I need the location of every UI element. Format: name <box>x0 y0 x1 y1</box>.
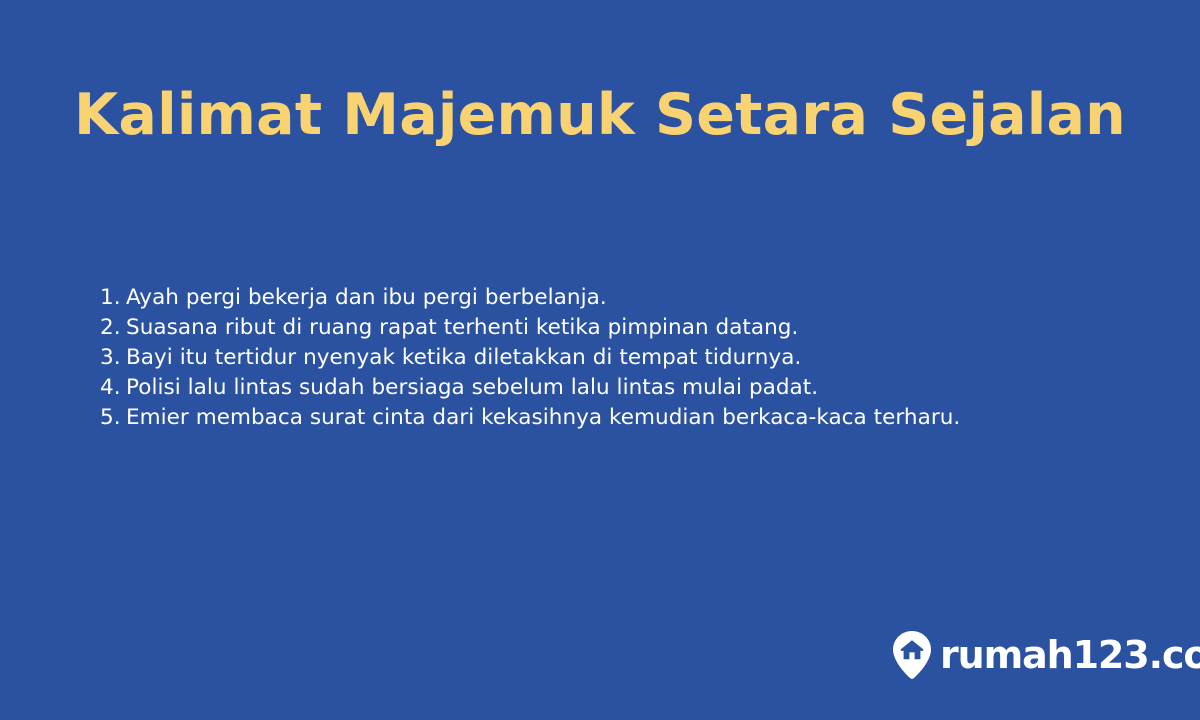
list-item-number: 4. <box>100 373 126 403</box>
list-item-number: 5. <box>100 403 126 433</box>
page-title: Kalimat Majemuk Setara Sejalan <box>0 84 1200 147</box>
list-item: 4.Polisi lalu lintas sudah bersiaga sebe… <box>100 373 1160 403</box>
brand-logo[interactable]: rumah123.com <box>893 628 1200 682</box>
list-item-number: 2. <box>100 313 126 343</box>
list-item: 5.Emier membaca surat cinta dari kekasih… <box>100 403 1160 433</box>
list-item-text: Ayah pergi bekerja dan ibu pergi berbela… <box>126 285 607 310</box>
list-item: 1.Ayah pergi bekerja dan ibu pergi berbe… <box>100 283 1160 313</box>
list-item: 3.Bayi itu tertidur nyenyak ketika dilet… <box>100 343 1160 373</box>
map-pin-house-icon <box>893 631 931 679</box>
slide-canvas: Kalimat Majemuk Setara Sejalan 1.Ayah pe… <box>0 0 1200 720</box>
list-item-number: 1. <box>100 283 126 313</box>
list-item-number: 3. <box>100 343 126 373</box>
list-item-text: Polisi lalu lintas sudah bersiaga sebelu… <box>126 375 818 400</box>
list-item: 2.Suasana ribut di ruang rapat terhenti … <box>100 313 1160 343</box>
list-item-text: Suasana ribut di ruang rapat terhenti ke… <box>126 315 798 340</box>
brand-name: rumah123.com <box>940 636 1200 674</box>
list-item-text: Bayi itu tertidur nyenyak ketika diletak… <box>126 345 801 370</box>
sentence-list: 1.Ayah pergi bekerja dan ibu pergi berbe… <box>100 283 1160 433</box>
list-item-text: Emier membaca surat cinta dari kekasihny… <box>126 405 960 430</box>
